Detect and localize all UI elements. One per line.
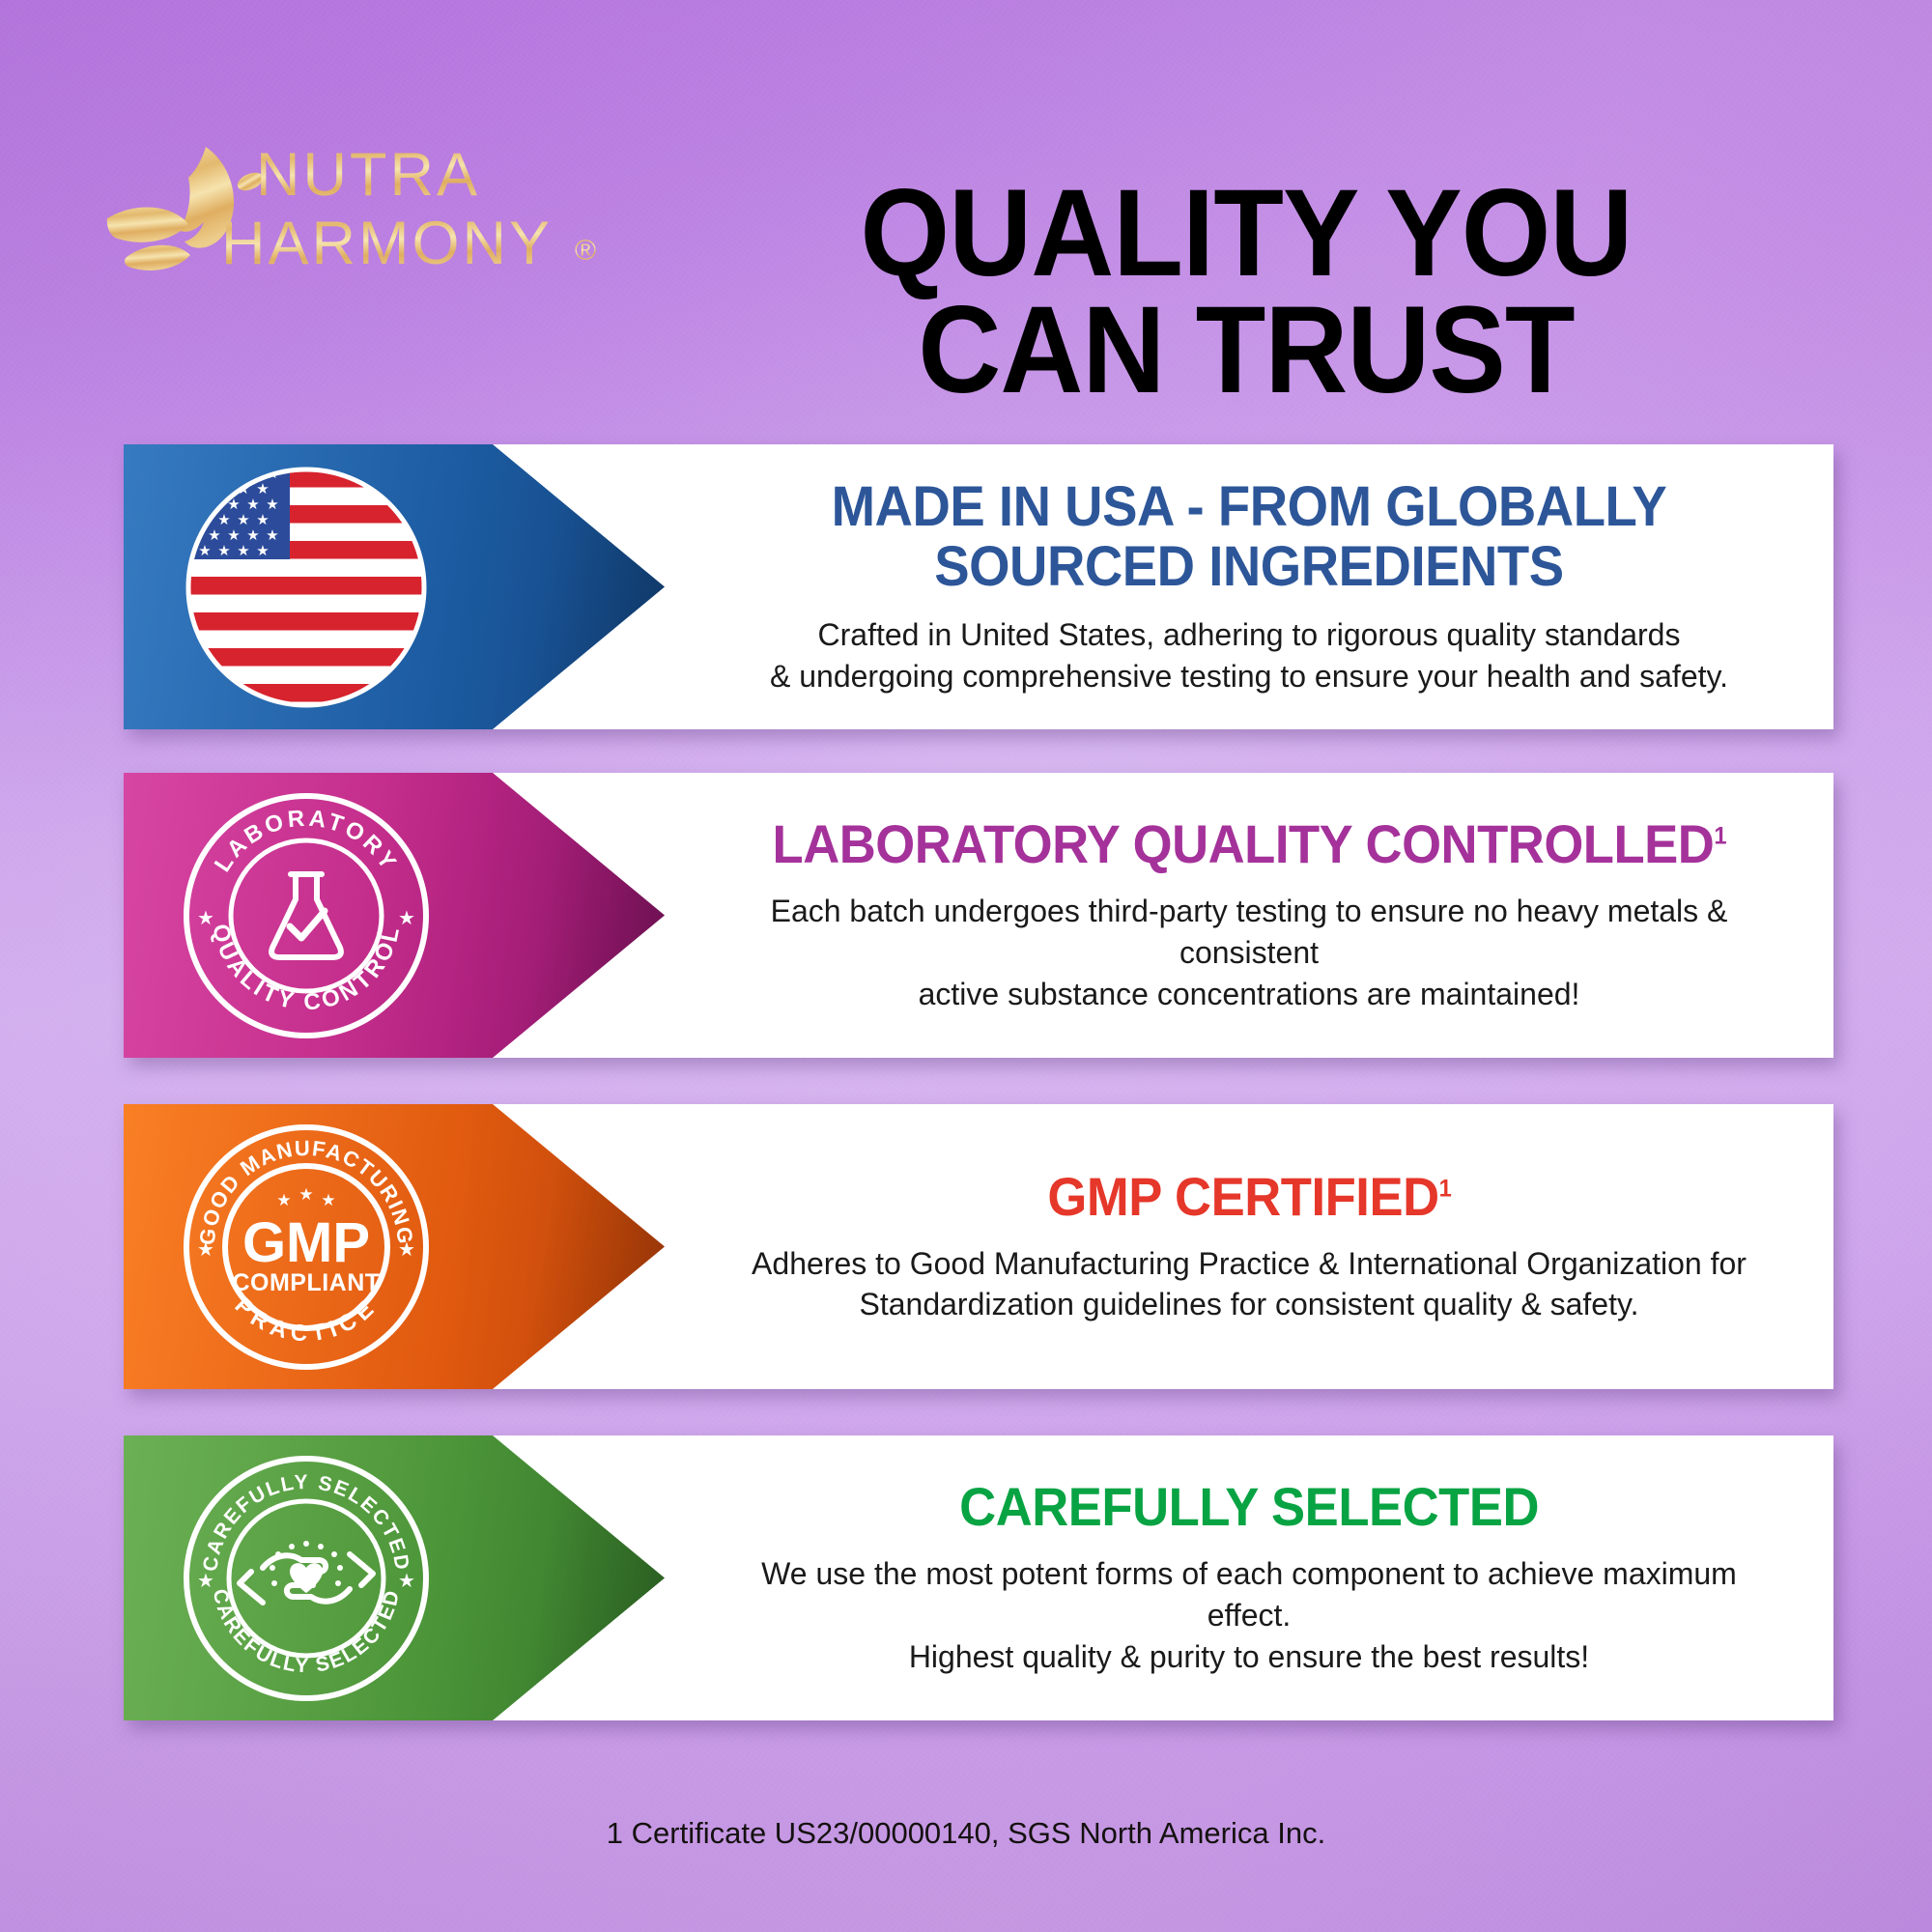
card-body: Each batch undergoes third-party testing… (718, 891, 1780, 1015)
svg-text:★: ★ (256, 543, 269, 559)
card-body-line1: We use the most potent forms of each com… (761, 1556, 1737, 1633)
feature-card-carefully-selected: CAREFULLY SELECTED CAREFULLY SELECTED ★★ (124, 1435, 1833, 1720)
svg-text:★: ★ (398, 1571, 415, 1592)
card-title: GMP CERTIFIED1 (1047, 1168, 1451, 1226)
svg-text:★: ★ (398, 908, 415, 929)
seal-center-line1: GMP (242, 1211, 370, 1274)
usa-flag-circle-icon: ★★★★★ ★★★★ ★★★★★ ★★★★ ★★★★★ ★★★★ (182, 463, 431, 712)
card-body-line2: active substance concentrations are main… (919, 977, 1580, 1011)
svg-text:★: ★ (208, 527, 220, 544)
svg-text:★: ★ (217, 512, 230, 528)
svg-text:★: ★ (198, 481, 211, 497)
card-body-line2: Highest quality & purity to ensure the b… (909, 1639, 1589, 1674)
svg-text:★: ★ (246, 497, 259, 513)
card-body-line2: & undergoing comprehensive testing to en… (770, 659, 1728, 694)
svg-text:★: ★ (198, 543, 211, 559)
svg-text:★: ★ (246, 527, 259, 544)
seal-bottom-text: PRACTICE (230, 1293, 384, 1347)
card-title-line1: LABORATORY QUALITY CONTROLLED (772, 813, 1714, 874)
gmp-compliant-seal-icon: GOOD MANUFACTURING PRACTICE ★★ ★★★ GMP C… (182, 1122, 431, 1372)
card-text-block: MADE IN USA - FROM GLOBALLY SOURCED INGR… (703, 444, 1795, 729)
card-title-line2: SOURCED INGREDIENTS (934, 535, 1563, 598)
svg-text:★: ★ (266, 527, 278, 544)
svg-text:★: ★ (298, 1185, 313, 1204)
svg-text:★: ★ (398, 1239, 415, 1261)
page-title-line2: CAN TRUST (663, 292, 1831, 410)
logo-text-line1: NUTRA (256, 141, 480, 209)
card-body: Crafted in United States, adhering to ri… (770, 614, 1728, 697)
svg-text:★: ★ (197, 1239, 214, 1261)
svg-text:★: ★ (237, 512, 249, 528)
card-body-line2: Standardization guidelines for consisten… (860, 1287, 1639, 1321)
svg-text:★: ★ (256, 481, 269, 497)
feature-card-gmp-certified: GOOD MANUFACTURING PRACTICE ★★ ★★★ GMP C… (124, 1104, 1833, 1389)
brand-logo: NUTRA HARMONY ® (92, 126, 633, 299)
svg-text:★: ★ (227, 466, 240, 482)
card-title: CAREFULLY SELECTED (959, 1478, 1539, 1536)
feature-card-made-in-usa: ★★★★★ ★★★★ ★★★★★ ★★★★ ★★★★★ ★★★★ MADE IN… (124, 444, 1833, 729)
card-body: We use the most potent forms of each com… (718, 1553, 1780, 1678)
card-text-block: CAREFULLY SELECTED We use the most poten… (703, 1435, 1795, 1720)
certificate-footnote: 1 Certificate US23/00000140, SGS North A… (0, 1816, 1932, 1851)
card-body-line1: Crafted in United States, adhering to ri… (818, 617, 1681, 652)
svg-text:★: ★ (197, 908, 214, 929)
infographic-page: NUTRA HARMONY ® QUALITY YOU CAN TRUST (0, 0, 1932, 1932)
card-title-footnote: 1 (1714, 823, 1726, 850)
card-text-block: LABORATORY QUALITY CONTROLLED1 Each batc… (703, 773, 1795, 1058)
svg-text:★: ★ (237, 543, 249, 559)
card-title-line1: GMP CERTIFIED (1047, 1166, 1438, 1227)
svg-text:★: ★ (227, 527, 240, 544)
svg-text:★: ★ (208, 466, 220, 482)
leaf-icon (107, 147, 234, 270)
card-title-line1: CAREFULLY SELECTED (959, 1476, 1539, 1537)
seal-bottom-text: CAREFULLY SELECTED (209, 1586, 405, 1676)
seal-center-line2: COMPLIANT (232, 1269, 380, 1296)
page-title: QUALITY YOU CAN TRUST (663, 175, 1831, 410)
laboratory-quality-control-seal-icon: LABORATORY QUALITY CONTROL ★★ (182, 791, 431, 1040)
card-title-footnote: 1 (1438, 1175, 1451, 1202)
registered-trademark-symbol: ® (575, 235, 596, 267)
card-title: MADE IN USA - FROM GLOBALLY SOURCED INGR… (832, 477, 1667, 597)
svg-text:★: ★ (217, 481, 230, 497)
svg-text:★: ★ (266, 497, 278, 513)
card-body-line1: Adheres to Good Manufacturing Practice &… (752, 1246, 1747, 1281)
card-body-line1: Each batch undergoes third-party testing… (771, 894, 1728, 970)
svg-text:★: ★ (188, 497, 201, 513)
card-text-block: GMP CERTIFIED1 Adheres to Good Manufactu… (703, 1104, 1795, 1389)
svg-text:★: ★ (188, 466, 201, 482)
svg-text:★: ★ (217, 543, 230, 559)
svg-text:★: ★ (276, 1191, 291, 1209)
svg-text:★: ★ (197, 1571, 214, 1592)
svg-text:★: ★ (256, 512, 269, 528)
logo-text-line2: HARMONY (221, 210, 553, 277)
card-body: Adheres to Good Manufacturing Practice &… (752, 1243, 1747, 1326)
card-title-line1: MADE IN USA - FROM GLOBALLY (832, 475, 1667, 538)
carefully-selected-seal-icon: CAREFULLY SELECTED CAREFULLY SELECTED ★★ (182, 1454, 431, 1703)
svg-text:★: ★ (321, 1191, 335, 1209)
card-title: LABORATORY QUALITY CONTROLLED1 (772, 815, 1726, 873)
feature-card-laboratory-quality: LABORATORY QUALITY CONTROL ★★ LABORATORY… (124, 773, 1833, 1058)
